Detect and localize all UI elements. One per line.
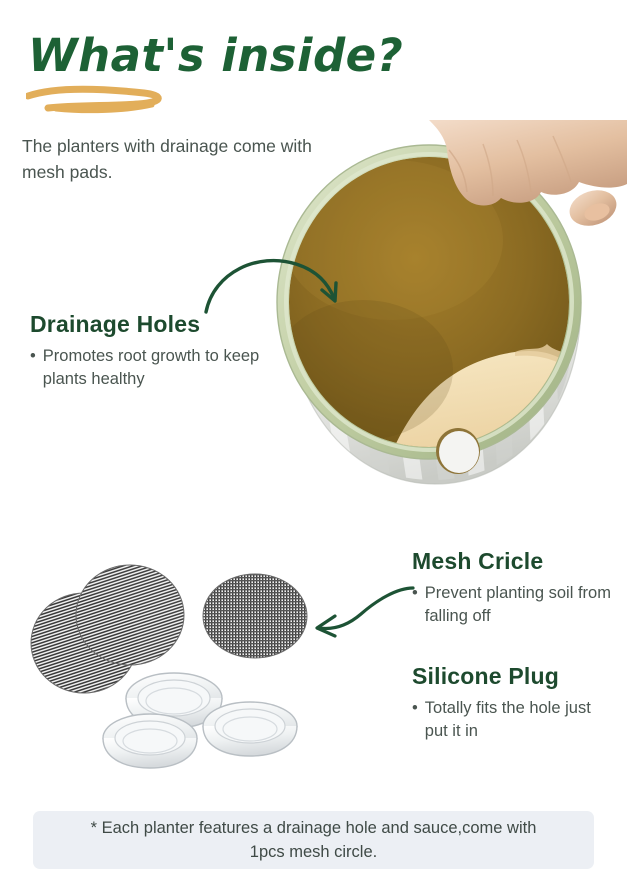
section-drainage-holes: Drainage Holes • Promotes root growth to… [30, 310, 270, 391]
drainage-bullet: • Promotes root growth to keep plants he… [30, 345, 270, 391]
bullet-marker-icon: • [30, 345, 36, 391]
mesh-bullet: • Prevent planting soil from falling off [412, 582, 617, 628]
bullet-marker-icon: • [412, 582, 418, 628]
silicone-plug [103, 714, 197, 768]
footnote-panel: * Each planter features a drainage hole … [33, 811, 594, 869]
bullet-marker-icon: • [412, 697, 418, 743]
page-title: What's inside? [28, 30, 408, 82]
section-silicone-plug: Silicone Plug • Totally fits the hole ju… [412, 662, 617, 743]
parts-image [22, 538, 342, 773]
plug-heading: Silicone Plug [412, 662, 617, 690]
drainage-hole-opening [439, 431, 479, 473]
drainage-bullet-text: Promotes root growth to keep plants heal… [43, 345, 270, 391]
mesh-bullet-text: Prevent planting soil from falling off [425, 582, 617, 628]
silicone-plug [203, 702, 297, 756]
mesh-circle [203, 574, 307, 658]
title-block: What's inside? [28, 30, 408, 82]
plug-bullet: • Totally fits the hole just put it in [412, 697, 617, 743]
drainage-heading: Drainage Holes [30, 310, 270, 338]
plug-bullet-text: Totally fits the hole just put it in [425, 697, 617, 743]
mesh-heading: Mesh Cricle [412, 547, 617, 575]
footnote-text: * Each planter features a drainage hole … [79, 816, 549, 864]
arrow-to-mesh-icon [305, 572, 420, 644]
section-mesh-circle: Mesh Cricle • Prevent planting soil from… [412, 547, 617, 628]
title-underline-swoosh [26, 84, 176, 116]
mesh-circle [76, 565, 184, 665]
